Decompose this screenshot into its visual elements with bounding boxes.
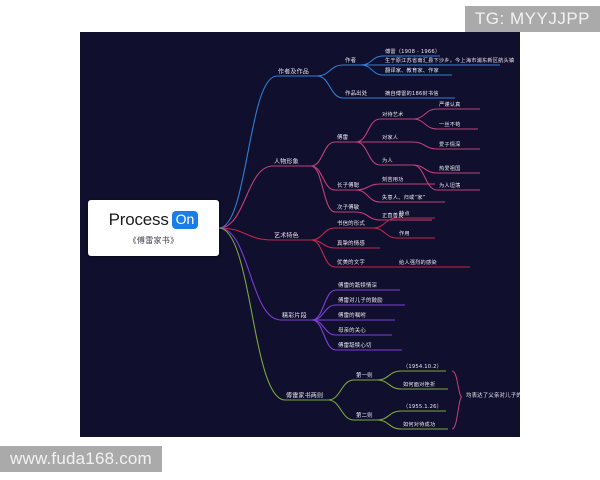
node-elder-son-trait-1[interactable]: 刻苦用功 — [382, 178, 404, 184]
central-node-subtitle: 《傅雷家书》 — [129, 235, 179, 246]
processon-logo-text: Process — [109, 210, 169, 230]
node-fulei[interactable]: 傅雷 — [337, 136, 348, 142]
node-letter-form[interactable]: 书信的形式 — [337, 222, 365, 228]
node-elder-son[interactable]: 长子傅聪 — [337, 184, 359, 190]
central-node[interactable]: Process On 《傅雷家书》 — [88, 200, 219, 256]
node-summary-note[interactable]: 均表达了父亲对儿子的舐犊之情 — [466, 394, 520, 400]
branch-label-excerpts[interactable]: 精彩片段 — [282, 314, 307, 321]
node-letter-one-date[interactable]: （1954.10.2） — [403, 365, 442, 371]
branch-label-art-features[interactable]: 艺术特色 — [274, 234, 299, 241]
node-letter-two[interactable]: 第二则 — [356, 414, 373, 420]
node-author-life[interactable]: 傅雷（1908 - 1966） — [385, 50, 440, 56]
node-excerpt-1[interactable]: 傅雷的舐犊情深 — [338, 284, 377, 290]
node-author-birthplace[interactable]: 生于原江苏省南汇县下沙乡，今上海市浦东新区航头镇 — [385, 59, 514, 65]
node-toward-art[interactable]: 对待艺术 — [382, 113, 404, 119]
branch-label-characters[interactable]: 人物形象 — [274, 160, 299, 167]
node-beautiful-text-effect[interactable]: 给人强烈的感染 — [399, 261, 437, 267]
node-work-source[interactable]: 作品出处 — [345, 92, 367, 98]
node-sincere-emotion[interactable]: 真挚的情感 — [337, 242, 365, 248]
node-personhood[interactable]: 为人 — [382, 159, 393, 165]
node-elder-son-trait-2[interactable]: 失意人、归或“家” — [382, 196, 426, 202]
node-art-trait-1[interactable]: 严谨认真 — [439, 103, 461, 109]
node-letter-form-function[interactable]: 作用 — [399, 232, 410, 238]
node-younger-son[interactable]: 次子傅敏 — [337, 206, 359, 212]
node-excerpt-4[interactable]: 母亲的关心 — [338, 329, 366, 335]
node-person-trait-1[interactable]: 热爱祖国 — [439, 167, 461, 173]
branch-label-authors[interactable]: 作者及作品 — [278, 70, 309, 77]
node-excerpt-5[interactable]: 傅雷舐犊心切 — [338, 344, 372, 350]
node-excerpt-3[interactable]: 傅雷的嘱咐 — [338, 314, 366, 320]
processon-logo-badge: On — [172, 211, 199, 230]
node-letter-two-topic[interactable]: 如何对待成功 — [403, 423, 435, 429]
node-toward-family[interactable]: 对家人 — [382, 136, 398, 142]
branch-label-two-letters[interactable]: 傅雷家书两则 — [286, 394, 323, 401]
node-family-trait-1[interactable]: 爱子情深 — [439, 143, 461, 149]
node-author[interactable]: 作者 — [345, 59, 356, 65]
node-work-source-detail[interactable]: 摘自傅雷的186封书信 — [385, 92, 439, 98]
telegram-watermark: TG: MYYJJPP — [465, 6, 600, 32]
node-author-roles[interactable]: 翻译家、教育家、作家 — [385, 69, 439, 75]
processon-logo: Process On — [109, 210, 199, 230]
site-watermark: www.fuda168.com — [0, 446, 162, 472]
node-person-trait-2[interactable]: 为人坦荡 — [439, 184, 461, 190]
node-beautiful-text[interactable]: 优美的文字 — [337, 261, 365, 267]
node-excerpt-2[interactable]: 傅雷对儿子的鼓励 — [338, 299, 383, 305]
node-letter-form-feature[interactable]: 特点 — [399, 212, 410, 218]
node-letter-two-date[interactable]: （1955.1.26） — [403, 405, 442, 411]
node-letter-one[interactable]: 第一则 — [356, 374, 373, 380]
node-letter-one-topic[interactable]: 如何面对挫折 — [403, 383, 435, 389]
mindmap-canvas: 作者及作品 作者 傅雷（1908 - 1966） 生于原江苏省南汇县下沙乡，今上… — [80, 32, 520, 437]
node-art-trait-2[interactable]: 一丝不苟 — [439, 123, 461, 129]
